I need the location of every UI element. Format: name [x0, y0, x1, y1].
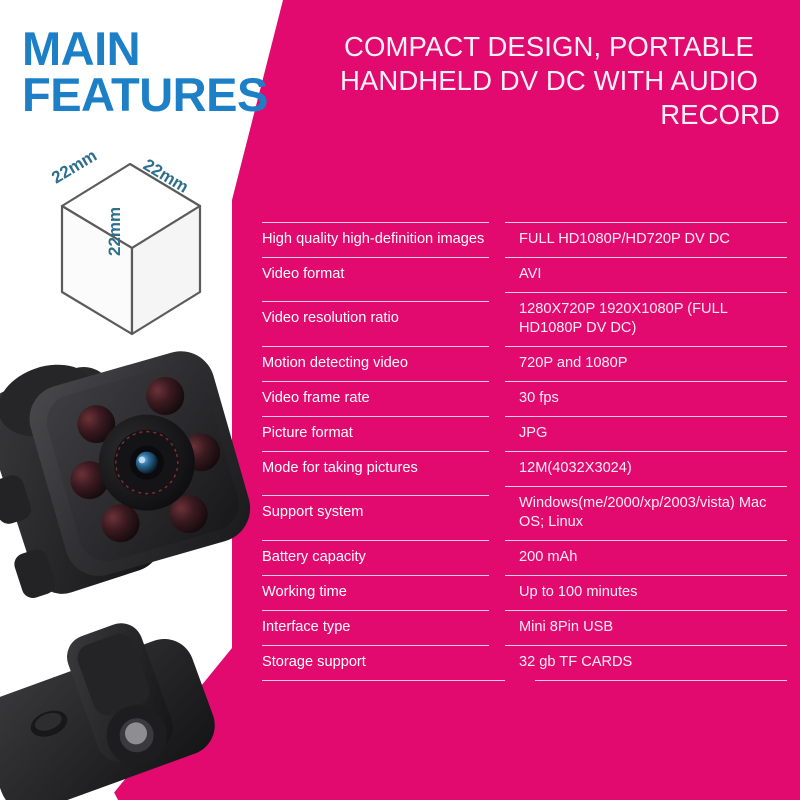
headline: COMPACT DESIGN, PORTABLE HANDHELD DV DC …	[318, 30, 780, 132]
spec-value: 720P and 1080P	[505, 346, 787, 381]
spec-value: Windows(me/2000/xp/2003/vista) Mac OS; L…	[505, 486, 787, 540]
table-bottom-rule-right	[535, 680, 787, 681]
spec-value: Up to 100 minutes	[505, 575, 787, 610]
specification-table: High quality high-definition images FULL…	[262, 222, 787, 681]
table-row: Storage support 32 gb TF CARDS	[262, 645, 787, 680]
table-row: Mode for taking pictures 12M(4032X3024)	[262, 451, 787, 486]
spec-label: Mode for taking pictures	[262, 451, 505, 486]
infographic-page: MAIN FEATURES COMPACT DESIGN, PORTABLE H…	[0, 0, 800, 800]
spec-label: Picture format	[262, 416, 505, 451]
spec-label: High quality high-definition images	[262, 222, 505, 257]
spec-value: 200 mAh	[505, 540, 787, 575]
table-row: High quality high-definition images FULL…	[262, 222, 787, 257]
table-row: Motion detecting video 720P and 1080P	[262, 346, 787, 381]
table-row: Support system Windows(me/2000/xp/2003/v…	[262, 486, 787, 540]
spec-label: Video frame rate	[262, 381, 505, 416]
spec-value: 1280X720P 1920X1080P (FULL HD1080P DV DC…	[505, 292, 787, 346]
table-row: Working time Up to 100 minutes	[262, 575, 787, 610]
spec-value: AVI	[505, 257, 787, 292]
cube-label-top-left: 22mm	[48, 148, 100, 187]
product-image-mini-camera	[0, 330, 290, 800]
table-row: Video format AVI	[262, 257, 787, 292]
table-row: Battery capacity 200 mAh	[262, 540, 787, 575]
page-title: MAIN FEATURES	[22, 26, 322, 118]
spec-value: 12M(4032X3024)	[505, 451, 787, 486]
table-row: Picture format JPG	[262, 416, 787, 451]
spec-label: Video resolution ratio	[262, 301, 505, 336]
table-bottom-rule	[262, 680, 787, 681]
spec-value: 32 gb TF CARDS	[505, 645, 787, 680]
page-title-line-2: FEATURES	[22, 72, 322, 118]
headline-line-2: HANDHELD DV DC WITH AUDIO	[318, 64, 780, 98]
spec-value: 30 fps	[505, 381, 787, 416]
spec-label: Video format	[262, 257, 505, 292]
table-bottom-rule-left	[262, 680, 505, 681]
spec-label: Motion detecting video	[262, 346, 505, 381]
page-title-line-1: MAIN	[22, 26, 322, 72]
spec-label: Support system	[262, 495, 505, 530]
spec-label: Storage support	[262, 645, 505, 680]
spec-value: Mini 8Pin USB	[505, 610, 787, 645]
table-row: Interface type Mini 8Pin USB	[262, 610, 787, 645]
headline-line-3: RECORD	[318, 98, 780, 132]
spec-label: Battery capacity	[262, 540, 505, 575]
table-row: Video resolution ratio 1280X720P 1920X10…	[262, 292, 787, 346]
spec-label: Interface type	[262, 610, 505, 645]
spec-value: JPG	[505, 416, 787, 451]
spec-value: FULL HD1080P/HD720P DV DC	[505, 222, 787, 257]
cube-label-height: 22mm	[105, 207, 124, 256]
table-row: Video frame rate 30 fps	[262, 381, 787, 416]
spec-label: Working time	[262, 575, 505, 610]
headline-line-1: COMPACT DESIGN, PORTABLE	[318, 30, 780, 64]
dimension-cube-diagram: 22mm 22mm 22mm	[42, 148, 262, 378]
